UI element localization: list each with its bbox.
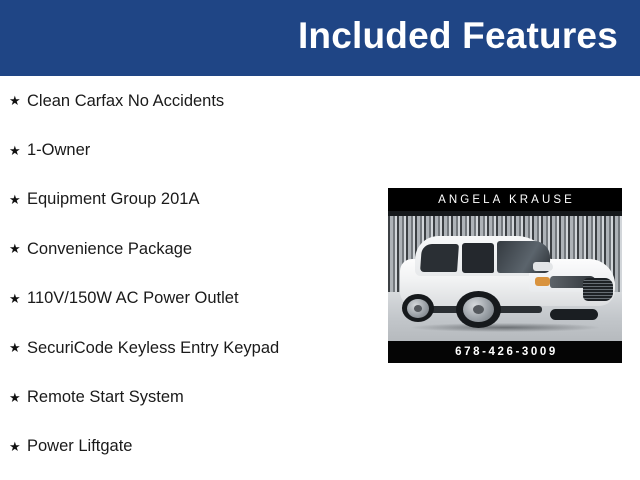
front-grille — [583, 278, 613, 300]
feature-label: Clean Carfax No Accidents — [27, 91, 224, 111]
dealer-phone-number: 678-426-3009 — [452, 346, 558, 358]
list-item: ★ Remote Start System — [0, 372, 380, 421]
suv-illustration — [400, 234, 615, 328]
list-item: ★ Clean Carfax No Accidents — [0, 76, 380, 125]
dealer-name: ANGELA KRAUSE — [435, 194, 575, 206]
feature-label: Remote Start System — [27, 387, 184, 407]
side-mirror — [533, 262, 552, 270]
list-item: ★ 1-Owner — [0, 125, 380, 174]
star-bullet-icon: ★ — [9, 341, 27, 354]
feature-label: SecuriCode Keyless Entry Keypad — [27, 338, 279, 358]
feature-label: Power Liftgate — [27, 436, 132, 456]
front-rim — [463, 297, 494, 322]
list-item: ★ 110V/150W AC Power Outlet — [0, 274, 380, 323]
star-bullet-icon: ★ — [9, 193, 27, 206]
vehicle-image — [388, 211, 622, 341]
feature-label: Equipment Group 201A — [27, 189, 199, 209]
list-item: ★ Power Liftgate — [0, 422, 380, 471]
vehicle-photo: ANGELA KRAUSE — [388, 188, 622, 363]
rear-door-window — [462, 243, 494, 273]
star-bullet-icon: ★ — [9, 144, 27, 157]
dealer-name-banner: ANGELA KRAUSE — [388, 188, 622, 211]
list-item: ★ Equipment Group 201A — [0, 175, 380, 224]
star-bullet-icon: ★ — [9, 242, 27, 255]
turn-signal-light — [535, 277, 550, 286]
list-item: ★ Convenience Package — [0, 224, 380, 273]
page-title: Included Features — [298, 13, 618, 59]
star-bullet-icon: ★ — [9, 440, 27, 453]
feature-label: 1-Owner — [27, 140, 90, 160]
rear-wheel — [402, 294, 434, 322]
lower-air-vent — [550, 309, 597, 319]
feature-label: Convenience Package — [27, 239, 192, 259]
dealer-phone-banner: 678-426-3009 — [388, 341, 622, 363]
rear-window — [420, 244, 459, 272]
star-bullet-icon: ★ — [9, 391, 27, 404]
feature-label: 110V/150W AC Power Outlet — [27, 288, 239, 308]
star-bullet-icon: ★ — [9, 292, 27, 305]
front-wheel — [456, 291, 501, 328]
wall-top-edge — [388, 211, 622, 216]
included-features-list: ★ Clean Carfax No Accidents ★ 1-Owner ★ … — [0, 76, 380, 471]
list-item: ★ SecuriCode Keyless Entry Keypad — [0, 323, 380, 372]
star-bullet-icon: ★ — [9, 94, 27, 107]
rear-rim — [407, 299, 429, 318]
header-banner: Included Features — [0, 0, 640, 76]
